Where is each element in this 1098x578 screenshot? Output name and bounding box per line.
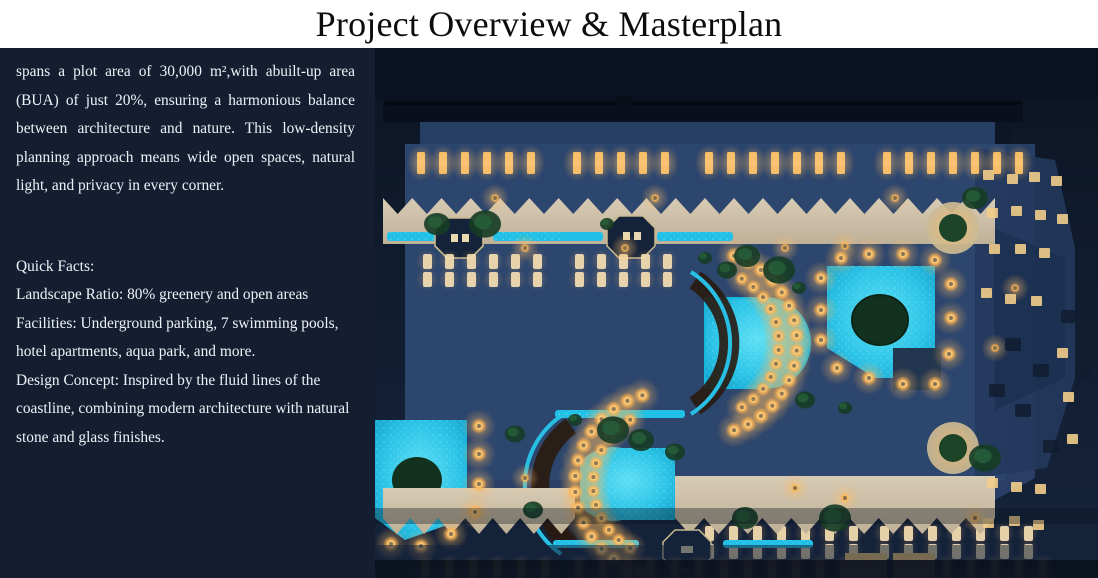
fact-design-concept: Design Concept: Inspired by the fluid li…: [16, 367, 355, 453]
title-bar: Project Overview & Masterplan: [0, 0, 1098, 48]
text-panel: spans a plot area of 30,000 m²,with abui…: [0, 48, 375, 578]
masterplan-render: [375, 48, 1098, 578]
fact-landscape-ratio: Landscape Ratio: 80% greenery and open a…: [16, 281, 355, 310]
intro-paragraph: spans a plot area of 30,000 m²,with abui…: [16, 58, 355, 201]
quick-facts-heading: Quick Facts:: [16, 253, 355, 282]
masterplan-image: [375, 48, 1098, 578]
fact-facilities: Facilities: Underground parking, 7 swimm…: [16, 310, 355, 367]
slide-root: Project Overview & Masterplan spans a pl…: [0, 0, 1098, 578]
quick-facts-block: Quick Facts: Landscape Ratio: 80% greene…: [16, 253, 355, 453]
page-title: Project Overview & Masterplan: [316, 2, 783, 46]
